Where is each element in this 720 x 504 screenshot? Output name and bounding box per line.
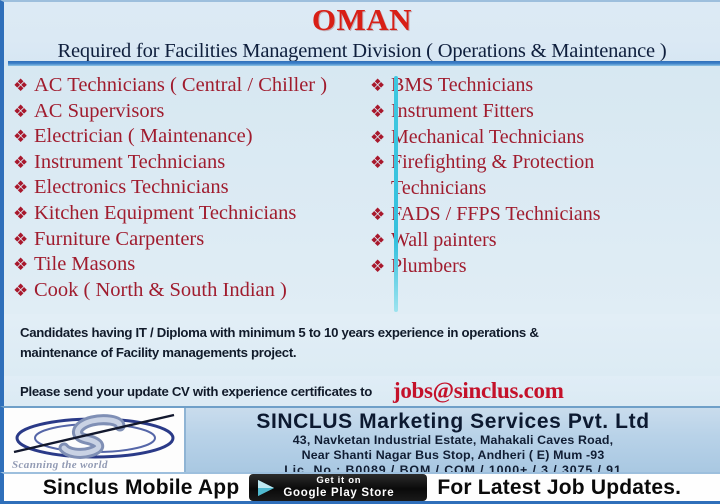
list-item: ❖ Electrician ( Maintenance) <box>13 124 356 150</box>
company-address-line-2: Near Shanti Nagar Bus Stop, Andheri ( E)… <box>186 448 720 463</box>
mobile-app-label: Sinclus Mobile App <box>43 476 240 500</box>
company-footer: Scanning the world SINCLUS Marketing Ser… <box>0 406 720 472</box>
job-updates-label: For Latest Job Updates. <box>437 476 681 500</box>
list-item: ❖ Wall painters <box>370 228 716 254</box>
list-item: ❖ Cook ( North & South Indian ) <box>13 278 356 304</box>
diamond-bullet-icon: ❖ <box>13 124 34 150</box>
diamond-bullet-icon: ❖ <box>370 254 391 280</box>
list-item: ❖ Tile Masons <box>13 252 356 278</box>
column-divider <box>394 76 398 312</box>
diamond-bullet-icon: ❖ <box>13 252 34 278</box>
diamond-bullet-icon: ❖ <box>13 175 34 201</box>
job-title: Plumbers <box>391 254 716 280</box>
job-title: FADS / FFPS Technicians <box>391 202 716 228</box>
list-item: ❖ Firefighting & Protection <box>370 150 716 176</box>
list-item: ❖ AC Technicians ( Central / Chiller ) <box>13 73 356 99</box>
job-title: Kitchen Equipment Technicians <box>34 201 356 227</box>
badge-store-name: Google Play Store <box>283 488 394 500</box>
list-item: ❖ Kitchen Equipment Technicians <box>13 201 356 227</box>
job-title: BMS Technicians <box>391 73 716 99</box>
eligibility-notes: Candidates having IT / Diploma with mini… <box>0 314 720 376</box>
job-title-continuation: Technicians <box>370 176 716 202</box>
job-title: Wall painters <box>391 228 716 254</box>
google-play-triangle-icon <box>255 478 277 498</box>
diamond-bullet-icon: ❖ <box>13 99 34 125</box>
list-item: ❖ Electronics Technicians <box>13 175 356 201</box>
diamond-bullet-icon: ❖ <box>370 73 391 99</box>
job-title: Firefighting & Protection <box>391 150 716 176</box>
sinclus-logo-icon <box>12 412 178 462</box>
google-play-store-badge[interactable]: Get it on Google Play Store <box>249 474 427 501</box>
list-item: ❖ Instrument Technicians <box>13 150 356 176</box>
company-name: SINCLUS Marketing Services Pvt. Ltd <box>186 410 720 433</box>
company-logo-box: Scanning the world <box>4 408 186 472</box>
poster-header: OMAN Required for Facilities Management … <box>0 0 720 66</box>
list-item: ❖ AC Supervisors <box>13 99 356 125</box>
job-title: Furniture Carpenters <box>34 227 356 253</box>
page-subtitle: Required for Facilities Management Divis… <box>4 37 720 64</box>
job-title: Cook ( North & South Indian ) <box>34 278 356 304</box>
diamond-bullet-icon: ❖ <box>13 150 34 176</box>
list-item: ❖ Furniture Carpenters <box>13 227 356 253</box>
apply-instruction-text: Please send your update CV with experien… <box>20 384 372 399</box>
list-item: ❖ FADS / FFPS Technicians <box>370 202 716 228</box>
job-title: AC Technicians ( Central / Chiller ) <box>34 73 356 99</box>
job-title: Instrument Fitters <box>391 99 716 125</box>
job-advertisement-poster: OMAN Required for Facilities Management … <box>0 0 720 504</box>
google-play-badge-text: Get it on Google Play Store <box>283 476 394 499</box>
diamond-bullet-icon: ❖ <box>370 228 391 254</box>
diamond-bullet-icon: ❖ <box>370 125 391 151</box>
diamond-bullet-icon: ❖ <box>370 99 391 125</box>
job-list-right-column: ❖ BMS Technicians ❖ Instrument Fitters ❖… <box>356 73 716 314</box>
eligibility-line-1: Candidates having IT / Diploma with mini… <box>20 323 708 343</box>
badge-get-it-on: Get it on <box>283 476 394 486</box>
job-list-left-column: ❖ AC Technicians ( Central / Chiller ) ❖… <box>4 73 356 314</box>
job-positions-section: ❖ AC Technicians ( Central / Chiller ) ❖… <box>0 66 720 314</box>
diamond-bullet-icon: ❖ <box>13 73 34 99</box>
diamond-bullet-icon: ❖ <box>370 150 391 176</box>
company-tagline: Scanning the world <box>12 459 108 471</box>
mobile-app-banner: Sinclus Mobile App Get it on Google Play… <box>0 472 720 504</box>
job-title: Electronics Technicians <box>34 175 356 201</box>
list-item: ❖ Mechanical Technicians <box>370 125 716 151</box>
diamond-bullet-icon: ❖ <box>13 201 34 227</box>
apply-instruction-row: Please send your update CV with experien… <box>0 376 720 406</box>
list-item: ❖ BMS Technicians <box>370 73 716 99</box>
eligibility-line-2: maintenance of Facility managements proj… <box>20 343 708 363</box>
job-title: Tile Masons <box>34 252 356 278</box>
apply-email-address[interactable]: jobs@sinclus.com <box>372 378 564 404</box>
list-item: ❖ Plumbers <box>370 254 716 280</box>
job-title: AC Supervisors <box>34 99 356 125</box>
page-title: OMAN <box>4 3 720 37</box>
company-address-line-1: 43, Navketan Industrial Estate, Mahakali… <box>186 433 720 448</box>
job-title: Mechanical Technicians <box>391 125 716 151</box>
diamond-bullet-icon: ❖ <box>13 278 34 304</box>
job-title: Electrician ( Maintenance) <box>34 124 356 150</box>
job-title: Instrument Technicians <box>34 150 356 176</box>
company-details: SINCLUS Marketing Services Pvt. Ltd 43, … <box>186 408 720 472</box>
list-item: ❖ Instrument Fitters <box>370 99 716 125</box>
diamond-bullet-icon: ❖ <box>13 227 34 253</box>
diamond-bullet-icon: ❖ <box>370 202 391 228</box>
